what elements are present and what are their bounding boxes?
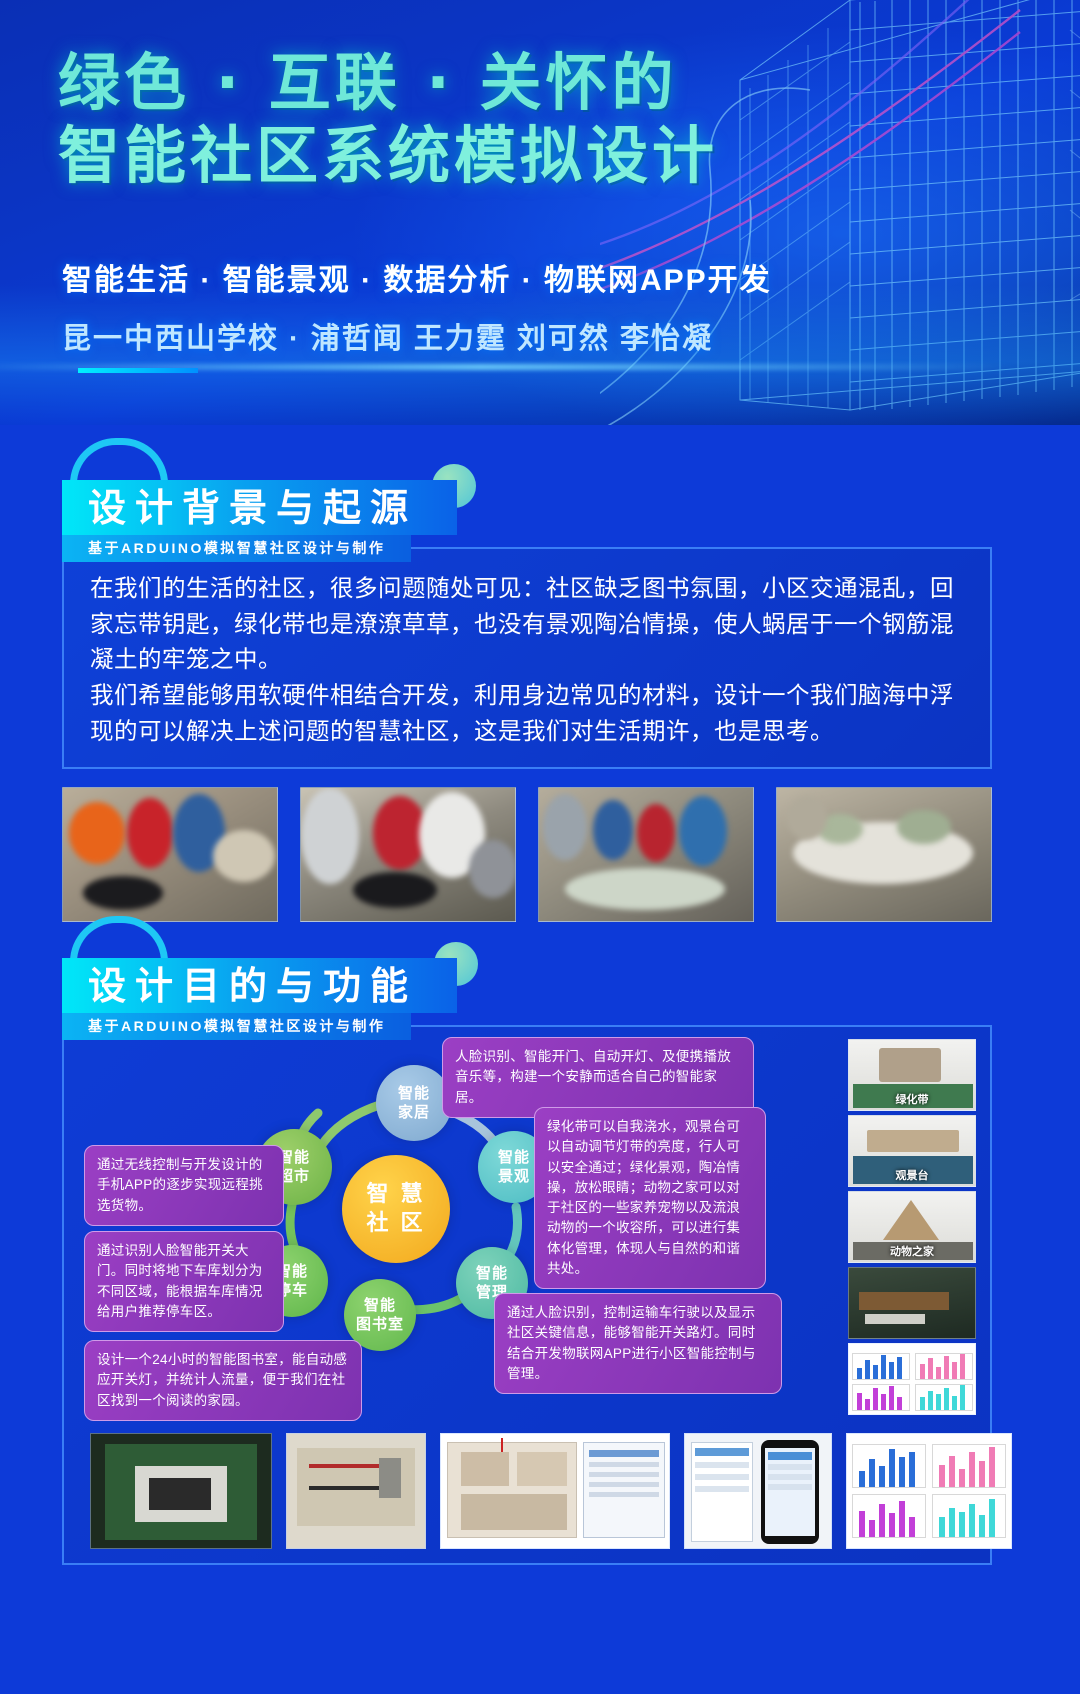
node-label: 图书室 [356,1315,404,1334]
center-label-1: 智 慧 [366,1180,425,1209]
thumbnail-caption: 绿化带 [849,1091,975,1107]
photo-community-model-top [90,1433,272,1549]
photo-wiring-detail [286,1433,426,1549]
callout-smart-market: 通过无线控制与开发设计的手机APP的逐步实现远程挑选货物。 [84,1145,284,1226]
handle-arc-icon [70,438,168,484]
mini-chart-grid [849,1344,975,1414]
section-1-header: 设计背景与起源 基于ARDUINO模拟智慧社区设计与制作 [62,480,457,562]
node-label: 智能 [498,1148,530,1167]
thumbnail-data-charts [848,1343,976,1415]
screenshot-statistics-charts [846,1433,1012,1549]
photo-model-overview [776,787,992,922]
photo-students-working-3 [538,787,754,922]
title-line-2: 智能社区系统模拟设计 [58,119,718,192]
section-2-header: 设计目的与功能 基于ARDUINO模拟智慧社区设计与制作 [62,958,457,1040]
photo-students-working-1 [62,787,278,922]
section-2-title-bar: 设计目的与功能 [62,958,457,1013]
node-label: 智能 [476,1264,508,1283]
accent-bar [78,368,198,373]
thumbnail-circuit-board [848,1267,976,1339]
screenshot-floorplan-app [440,1433,670,1549]
thumbnail-viewdeck: 观景台 [848,1115,976,1187]
section-1-paragraph-1: 在我们的生活的社区，很多问题随处可见：社区缺乏图书氛围，小区交通混乱，回家忘带钥… [90,571,964,678]
callout-smart-landscape: 绿化带可以自我浇水，观景台可以自动调节灯带的亮度，行人可以安全通过；绿化景观，陶… [534,1107,766,1289]
section-1-body: 在我们的生活的社区，很多问题随处可见：社区缺乏图书氛围，小区交通混乱，回家忘带钥… [62,547,992,769]
center-label-2: 社 区 [366,1209,425,1238]
section-1-subtitle: 基于ARDUINO模拟智慧社区设计与制作 [62,535,411,562]
node-label: 智能 [364,1296,396,1315]
model-thumbnail-list: 绿化带 观景台 动物之家 [848,1039,976,1419]
thumbnail-caption: 观景台 [849,1167,975,1183]
thumbnail-caption: 动物之家 [849,1243,975,1259]
section-2-subtitle: 基于ARDUINO模拟智慧社区设计与制作 [62,1013,411,1040]
poster-title: 绿色 · 互联 · 关怀的 智能社区系统模拟设计 [58,46,718,192]
thumbnail-greenbelt: 绿化带 [848,1039,976,1111]
section-1-title-bar: 设计背景与起源 [62,480,457,535]
section-2-photo-strip [90,1433,1012,1549]
callout-smart-management: 通过人脸识别，控制运输车行驶以及显示社区关键信息，能够智能开关路灯。同时结合开发… [494,1293,782,1394]
section-2-body: 智 慧 社 区 智能 家居 智能 景观 智能 管理 智能 图书室 智能 停车 [62,1025,992,1565]
photo-students-working-2 [300,787,516,922]
callout-smart-home: 人脸识别、智能开门、自动开灯、及便携播放音乐等，构建一个安静而适合自己的智能家居… [442,1037,754,1118]
callout-smart-parking: 通过识别人脸智能开关大门。同时将地下车库划分为不同区域，能根据车库情况给用户推荐… [84,1231,284,1332]
diagram-node-smart-home[interactable]: 智能 家居 [376,1065,452,1141]
title-line-1: 绿色 · 互联 · 关怀的 [58,46,718,119]
thumbnail-animalhome: 动物之家 [848,1191,976,1263]
section-1-photo-row [62,787,992,922]
diagram-node-center: 智 慧 社 区 [342,1155,450,1263]
section-2-title: 设计目的与功能 [88,964,417,1009]
section-1-paragraph-2: 我们希望能够用软硬件相结合开发，利用身边常见的材料，设计一个我们脑海中浮现的可以… [90,678,964,749]
hero-banner: 绿色 · 互联 · 关怀的 智能社区系统模拟设计 智能生活 · 智能景观 · 数… [0,0,1080,425]
callout-smart-library: 设计一个24小时的智能图书室，能自动感应开关灯，并统计人流量，便于我们在社区找到… [84,1340,362,1421]
node-label: 景观 [498,1167,530,1186]
poster-subtitle: 智能生活 · 智能景观 · 数据分析 · 物联网APP开发 [62,255,772,299]
screenshot-mobile-app [684,1433,832,1549]
node-label: 家居 [398,1103,430,1122]
poster-authors: 昆一中西山学校 · 浦哲闻 王力霆 刘可然 李怡凝 [62,315,713,357]
section-1-title: 设计背景与起源 [88,486,417,531]
handle-arc-icon-2 [70,916,168,962]
node-label: 智能 [398,1084,430,1103]
